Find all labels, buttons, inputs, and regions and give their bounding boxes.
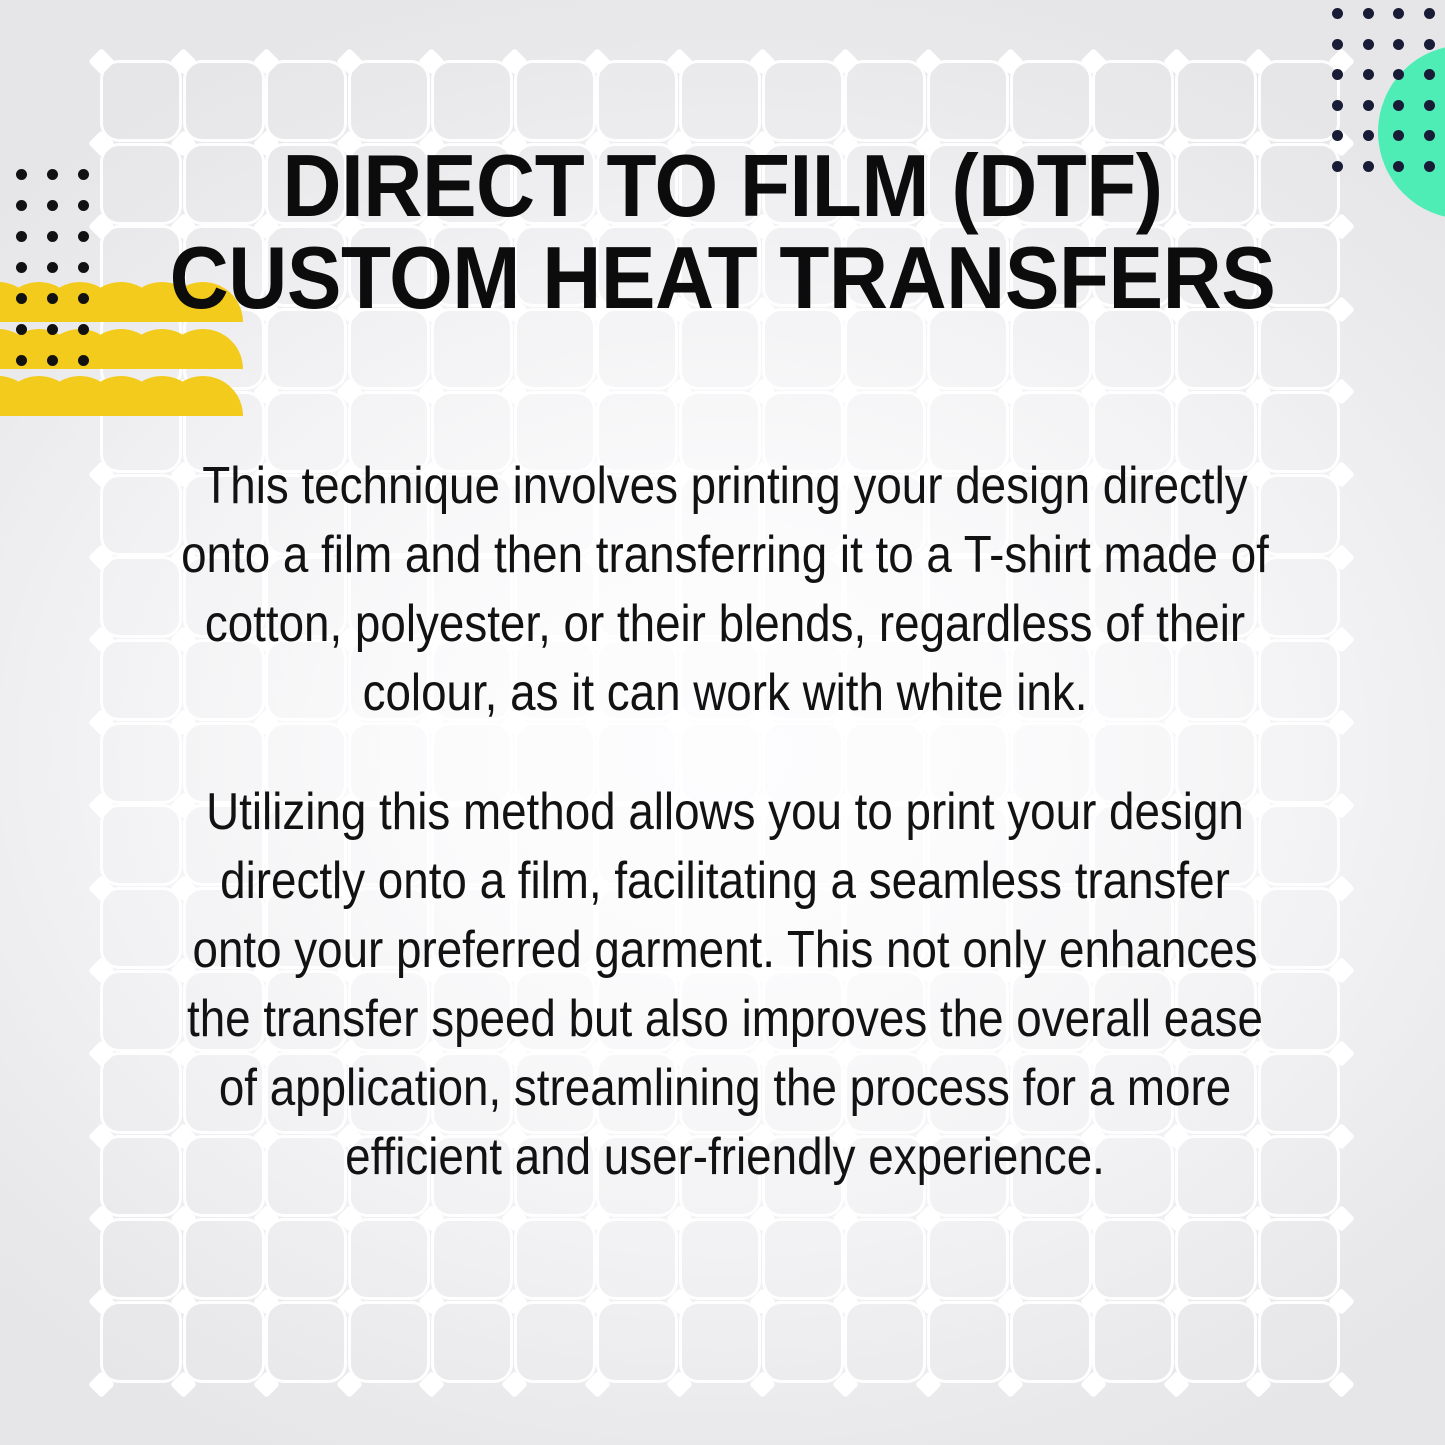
page-title: DIRECT TO FILM (DTF) CUSTOM HEAT TRANSFE… — [110, 140, 1335, 324]
body-copy: This technique involves printing your de… — [96, 452, 1354, 1192]
paragraph-2: Utilizing this method allows you to prin… — [171, 778, 1278, 1192]
poster-canvas: DIRECT TO FILM (DTF) CUSTOM HEAT TRANSFE… — [0, 0, 1445, 1445]
paragraph-1: This technique involves printing your de… — [171, 452, 1278, 728]
paragraph-spacer — [96, 728, 1354, 778]
title-line-2: CUSTOM HEAT TRANSFERS — [153, 232, 1292, 324]
title-line-1: DIRECT TO FILM (DTF) — [153, 140, 1292, 232]
poster-content: DIRECT TO FILM (DTF) CUSTOM HEAT TRANSFE… — [0, 0, 1445, 1445]
